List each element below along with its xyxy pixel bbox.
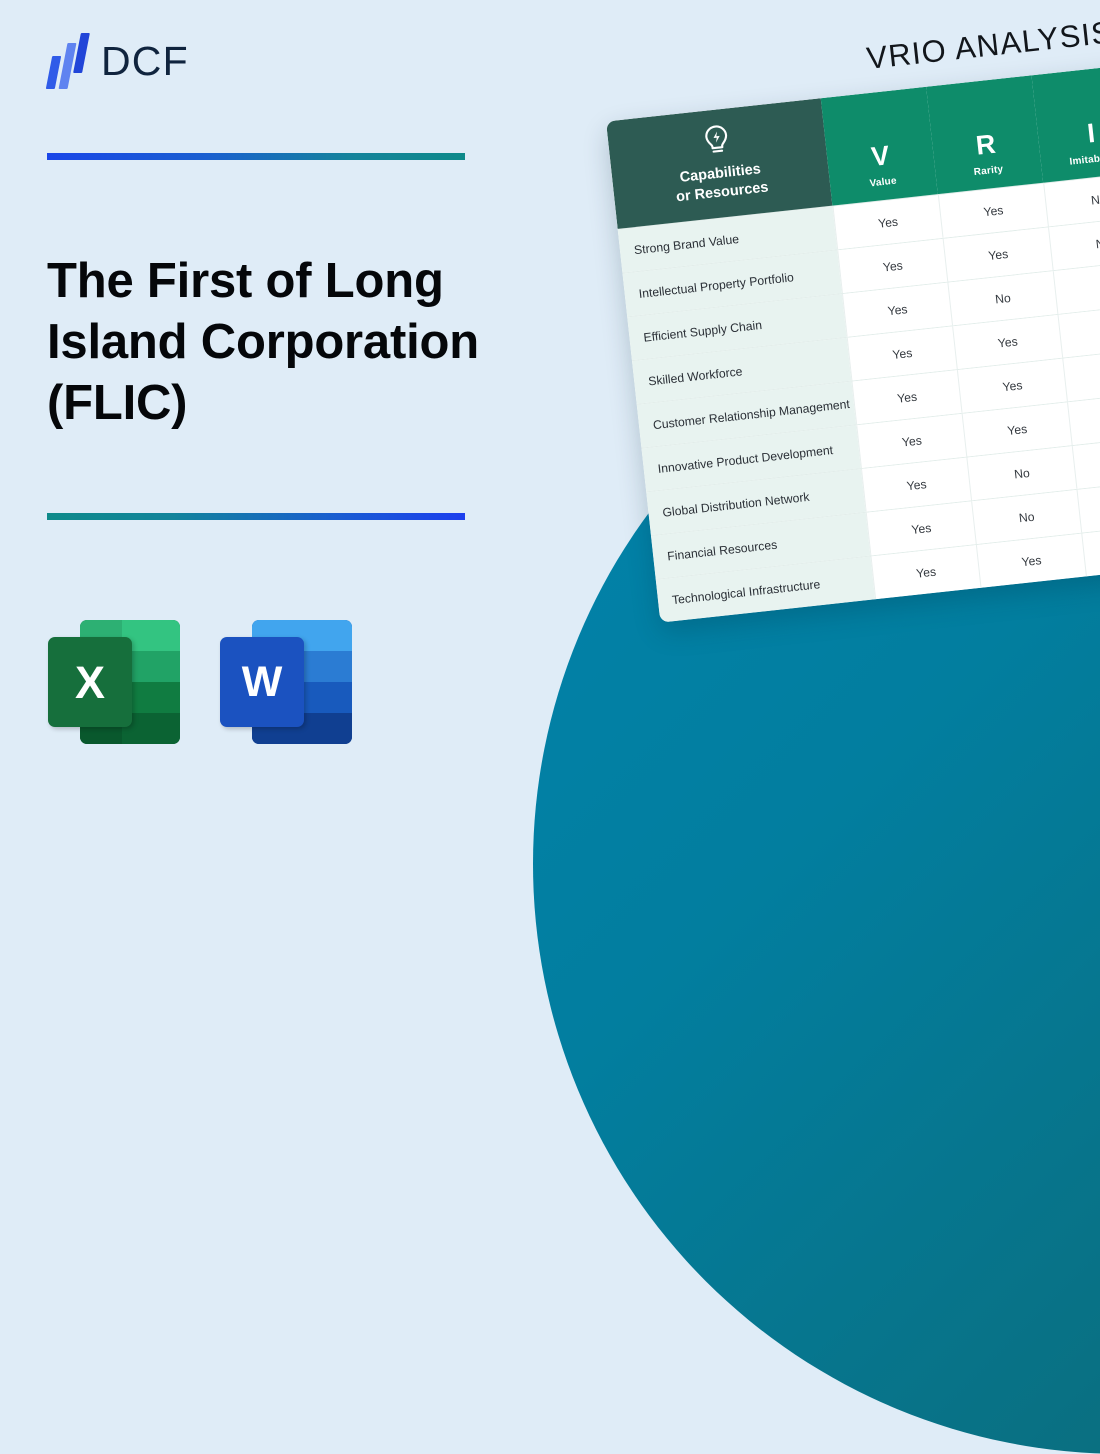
divider-top <box>47 153 465 160</box>
vrio-title: VRIO ANALYSIS <box>865 14 1100 77</box>
header-column-value: V Value <box>821 87 938 206</box>
header-letter-v: V <box>870 142 891 171</box>
header-column-imitability: I Imitability <box>1031 64 1100 183</box>
excel-letter: X <box>48 637 132 727</box>
header-sub-imitability: Imitability <box>1069 151 1100 167</box>
brand-name: DCF <box>101 41 189 82</box>
vrio-analysis-panel: VRIO ANALYSIS Capabilities or Resources … <box>598 0 1100 605</box>
header-sub-value: Value <box>869 176 897 190</box>
header-capabilities-label: Capabilities or Resources <box>673 159 769 206</box>
header-letter-i: I <box>1086 120 1096 148</box>
header-letter-r: R <box>975 131 997 160</box>
word-letter: W <box>220 637 304 727</box>
header-sub-rarity: Rarity <box>973 164 1004 178</box>
excel-file-icon[interactable]: X <box>48 620 180 744</box>
header-column-rarity: R Rarity <box>926 75 1043 194</box>
lightbulb-idea-icon <box>700 122 733 159</box>
dcf-bars-logo-icon <box>46 33 92 89</box>
brand-logo[interactable]: DCF <box>46 33 189 89</box>
left-pane: DCF The First of Long Island Corporation… <box>0 0 540 805</box>
vrio-table: Capabilities or Resources V Value R Rari… <box>606 52 1100 622</box>
page-title: The First of Long Island Corporation (FL… <box>47 251 517 435</box>
word-file-icon[interactable]: W <box>220 620 352 744</box>
vrio-table-body: Strong Brand ValueYesYesNoIntellectual P… <box>618 160 1100 623</box>
attachment-icons: X W <box>48 620 352 744</box>
divider-bottom <box>47 513 465 520</box>
